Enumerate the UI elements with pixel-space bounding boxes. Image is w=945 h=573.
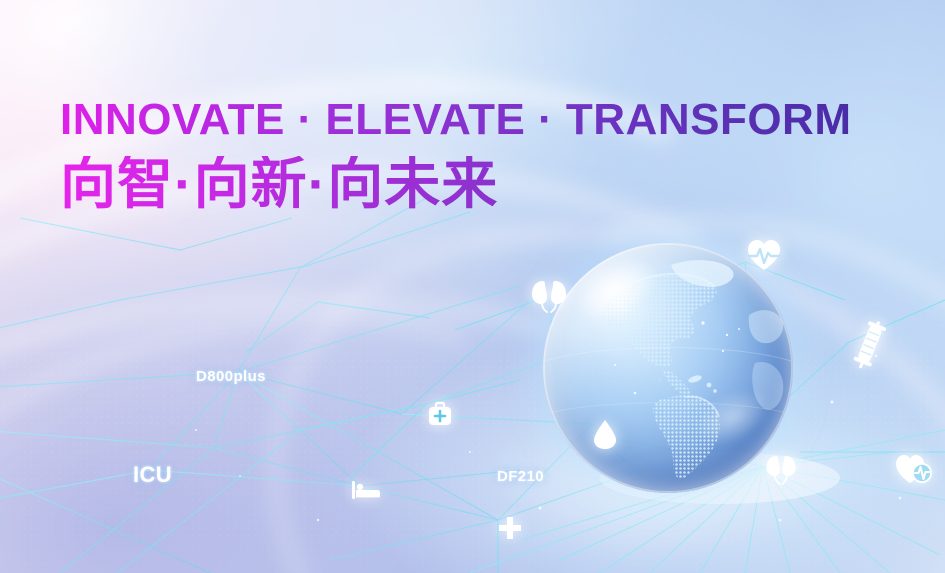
syringe-icon <box>849 320 891 370</box>
hero-banner: D800plus ICU DF210 INNOVATE · ELEVATE · … <box>0 0 945 573</box>
network-label-df210: DF210 <box>497 468 544 485</box>
network-label-icu: ICU <box>133 462 172 488</box>
water-drop-icon <box>592 418 618 450</box>
kidneys-icon-secondary <box>763 452 799 486</box>
headline-chinese: 向智·向新·向未来 <box>60 156 920 212</box>
medical-kit-icon <box>427 401 453 427</box>
medical-cross-icon <box>498 516 522 540</box>
headline-block: INNOVATE · ELEVATE · TRANSFORM 向智·向新·向未来 <box>60 98 920 212</box>
network-label-d800plus: D800plus <box>196 368 266 385</box>
hospital-bed-icon <box>351 478 381 502</box>
world-globe <box>543 243 793 493</box>
kidneys-icon <box>527 273 571 317</box>
heart-pulse-icon <box>745 238 783 272</box>
headline-english: INNOVATE · ELEVATE · TRANSFORM <box>60 98 920 142</box>
heart-monitor-icon <box>894 452 934 486</box>
